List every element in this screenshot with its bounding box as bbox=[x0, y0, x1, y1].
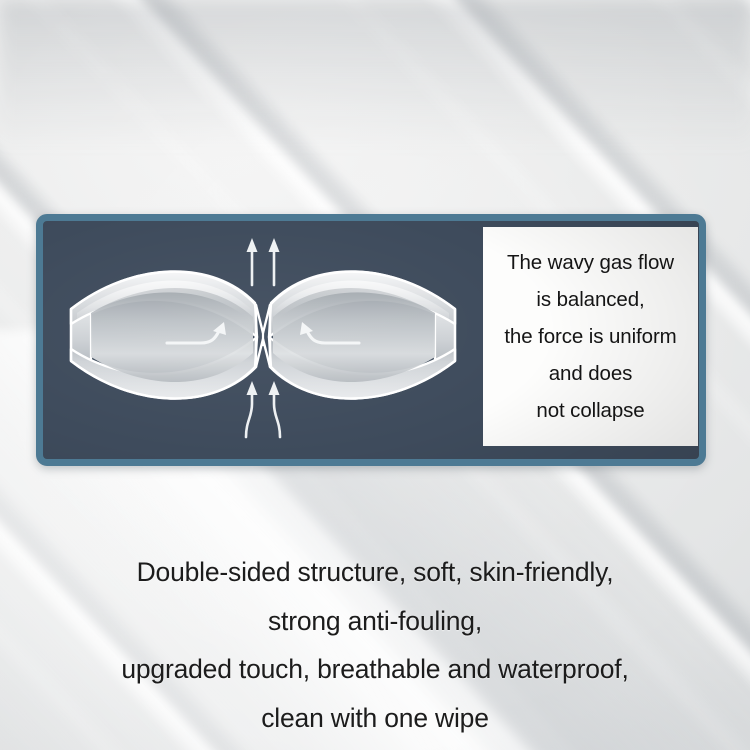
caption-line-3: upgraded touch, breathable and waterproo… bbox=[0, 645, 750, 694]
caption-line-4: clean with one wipe bbox=[0, 694, 750, 743]
callout-line-2: is balanced, bbox=[536, 281, 644, 318]
gas-flow-illustration bbox=[43, 221, 483, 459]
right-lens-body bbox=[269, 271, 455, 398]
caption-line-1: Double-sided structure, soft, skin-frien… bbox=[0, 548, 750, 597]
callout-line-3: the force is uniform bbox=[504, 318, 676, 355]
callout-line-5: not collapse bbox=[536, 392, 644, 429]
bottom-arrow-right bbox=[269, 381, 281, 437]
caption-line-2: strong anti-fouling, bbox=[0, 597, 750, 646]
callout-line-4: and does bbox=[549, 355, 633, 392]
left-lens-body bbox=[71, 271, 257, 398]
top-arrow-right bbox=[269, 238, 280, 285]
feature-caption: Double-sided structure, soft, skin-frien… bbox=[0, 548, 750, 742]
feature-panel: The wavy gas flow is balanced, the force… bbox=[36, 214, 706, 466]
callout-line-1: The wavy gas flow bbox=[507, 244, 674, 281]
top-arrow-left bbox=[247, 238, 258, 285]
callout-text-pane: The wavy gas flow is balanced, the force… bbox=[483, 227, 698, 446]
bottom-arrow-left bbox=[246, 381, 258, 437]
product-infographic: The wavy gas flow is balanced, the force… bbox=[0, 0, 750, 750]
